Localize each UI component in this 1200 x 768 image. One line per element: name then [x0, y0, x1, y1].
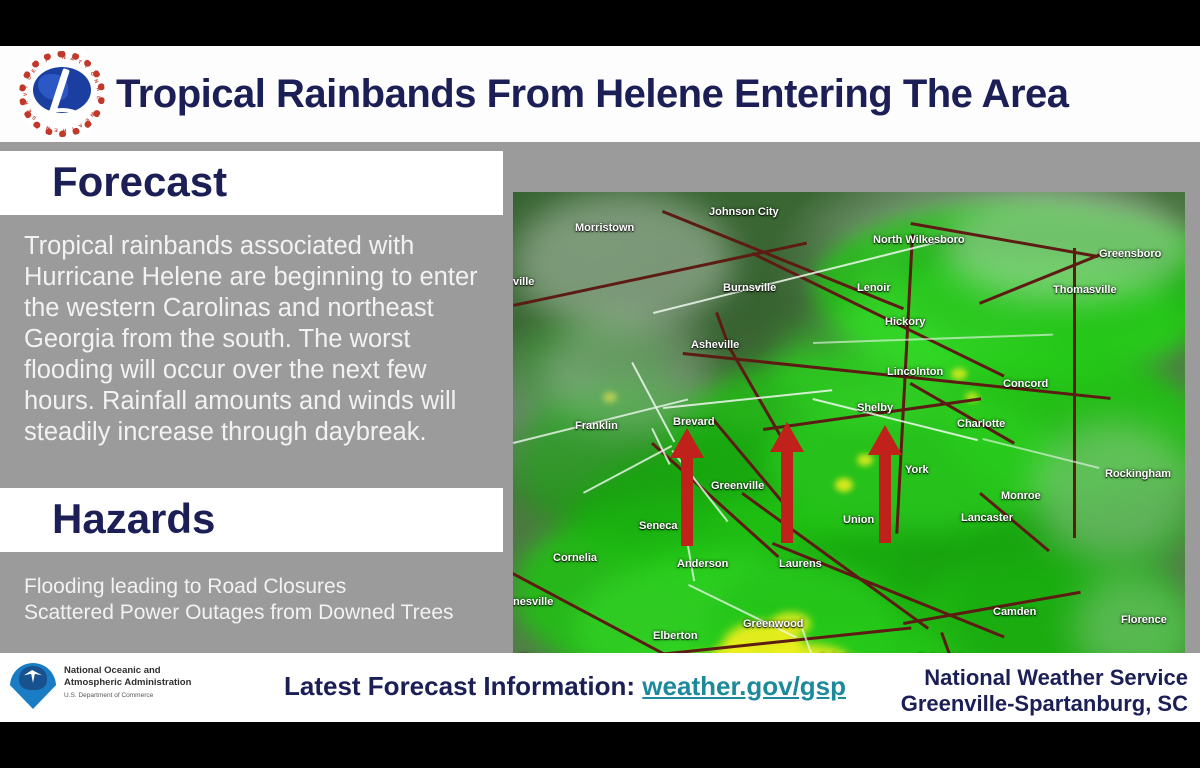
hazards-heading: Hazards — [52, 498, 215, 540]
map-label-johnson-city: Johnson City — [709, 206, 779, 218]
map-label-franklin: Franklin — [575, 420, 618, 432]
map-label-nesville: nesville — [513, 596, 553, 608]
map-label-anderson: Anderson — [677, 558, 728, 570]
map-label-charlotte: Charlotte — [957, 418, 1005, 430]
map-label-greenville: Greenville — [711, 480, 764, 492]
map-label-asheville: Asheville — [691, 339, 739, 351]
map-label-york: York — [905, 464, 929, 476]
hazards-heading-band: Hazards — [0, 488, 503, 552]
office-line-1: National Weather Service — [901, 665, 1188, 691]
rainband-arrow-3 — [868, 425, 902, 543]
map-label-greenwood: Greenwood — [743, 618, 804, 630]
forecast-text: Tropical rainbands associated with Hurri… — [24, 231, 494, 448]
map-label-hickory: Hickory — [885, 316, 925, 328]
map-label-florence: Florence — [1121, 614, 1167, 626]
map-label-greensboro: Greensboro — [1099, 248, 1161, 260]
footer-bar: National Oceanic and Atmospheric Adminis… — [0, 653, 1200, 722]
hazard-line-2: Scattered Power Outages from Downed Tree… — [24, 600, 504, 626]
office-name: National Weather Service Greenville-Spar… — [901, 665, 1188, 717]
map-label-monroe: Monroe — [1001, 490, 1041, 502]
map-label-ville: ville — [513, 276, 534, 288]
map-label-lancaster: Lancaster — [961, 512, 1013, 524]
latest-forecast-line: Latest Forecast Information: weather.gov… — [284, 671, 846, 702]
weather-gov-link[interactable]: weather.gov/gsp — [642, 671, 846, 701]
map-label-cornelia: Cornelia — [553, 552, 597, 564]
map-label-burnsville: Burnsville — [723, 282, 776, 294]
latest-forecast-label: Latest Forecast Information: — [284, 671, 635, 701]
slide-root: NATIONAL WEATHER SERVICE • Tropical Rain… — [0, 0, 1200, 768]
map-label-morristown: Morristown — [575, 222, 634, 234]
header-divider — [0, 142, 1200, 151]
left-panel: Forecast Tropical rainbands associated w… — [0, 151, 503, 653]
noaa-logo-block: National Oceanic and Atmospheric Adminis… — [10, 661, 260, 713]
hazard-line-1: Flooding leading to Road Closures — [24, 574, 504, 600]
forecast-heading-band: Forecast — [0, 151, 503, 215]
page-title: Tropical Rainbands From Helene Entering … — [116, 62, 1188, 126]
noaa-icon — [10, 663, 56, 711]
noaa-line-2: Atmospheric Administration — [64, 677, 191, 689]
nws-seal-icon: NATIONAL WEATHER SERVICE • — [10, 48, 114, 140]
noaa-line-1: National Oceanic and — [64, 665, 191, 677]
slide-content: NATIONAL WEATHER SERVICE • Tropical Rain… — [0, 46, 1200, 722]
map-label-north-wilkesboro: North Wilkesboro — [873, 234, 965, 246]
noaa-line-3: U.S. Department of Commerce — [64, 691, 191, 701]
map-label-elberton: Elberton — [653, 630, 698, 642]
office-line-2: Greenville-Spartanburg, SC — [901, 691, 1188, 717]
forecast-heading: Forecast — [52, 161, 227, 203]
rainband-arrow-2 — [770, 422, 804, 543]
rainband-arrow-1 — [670, 428, 704, 546]
map-label-thomasville: Thomasville — [1053, 284, 1117, 296]
header-bar: NATIONAL WEATHER SERVICE • Tropical Rain… — [0, 46, 1200, 142]
map-label-concord: Concord — [1003, 378, 1048, 390]
map-label-lenoir: Lenoir — [857, 282, 891, 294]
radar-map[interactable]: Johnson CityMorristownNorth WilkesboroGr… — [513, 192, 1185, 711]
map-label-laurens: Laurens — [779, 558, 822, 570]
map-label-brevard: Brevard — [673, 416, 715, 428]
map-label-lincolnton: Lincolnton — [887, 366, 943, 378]
map-label-rockingham: Rockingham — [1105, 468, 1171, 480]
hazards-body-band: Flooding leading to Road Closures Scatte… — [0, 552, 503, 653]
map-label-camden: Camden — [993, 606, 1036, 618]
forecast-body-band: Tropical rainbands associated with Hurri… — [0, 215, 503, 488]
map-label-shelby: Shelby — [857, 402, 893, 414]
